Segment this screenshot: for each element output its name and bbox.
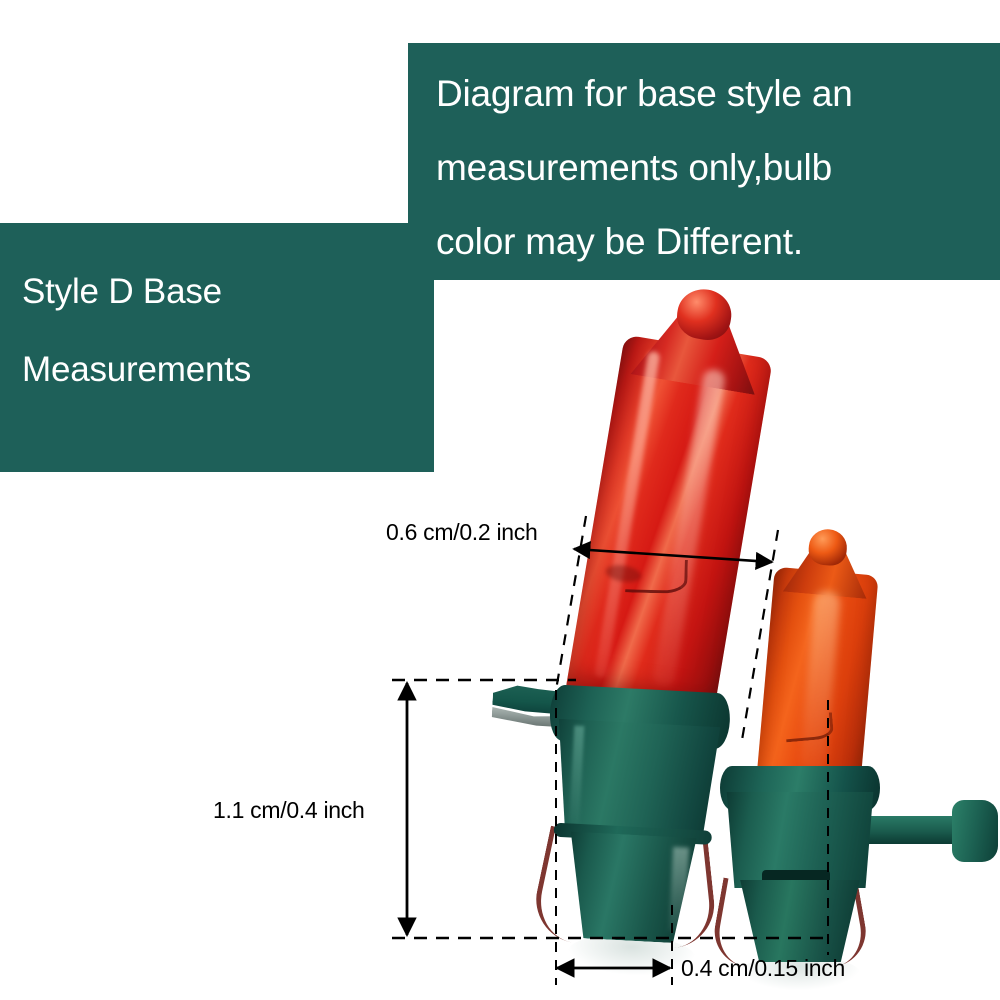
- socket-base-small: [716, 758, 1000, 968]
- title-line-1: Style D Base: [22, 253, 434, 331]
- diagram-canvas: Diagram for base style an measurements o…: [0, 0, 1000, 1000]
- bulb-filament: [625, 558, 688, 594]
- base-height-label: 1.1 cm/0.4 inch: [213, 797, 364, 824]
- bulb-width-label: 0.6 cm/0.2 inch: [386, 519, 537, 546]
- disclaimer-line-2: measurements only,bulb: [436, 131, 1000, 205]
- disclaimer-callout: Diagram for base style an measurements o…: [408, 43, 1000, 280]
- title-callout: Style D Base Measurements: [0, 223, 434, 472]
- base-width-label: 0.4 cm/0.15 inch: [681, 955, 845, 982]
- disclaimer-line-3: color may be Different.: [436, 205, 1000, 279]
- bulb-tip: [807, 528, 848, 567]
- base-clip-knob: [952, 800, 998, 862]
- socket-base-large: [480, 669, 759, 951]
- base-body: [548, 718, 726, 839]
- title-line-2: Measurements: [22, 331, 434, 409]
- disclaimer-line-1: Diagram for base style an: [436, 57, 1000, 131]
